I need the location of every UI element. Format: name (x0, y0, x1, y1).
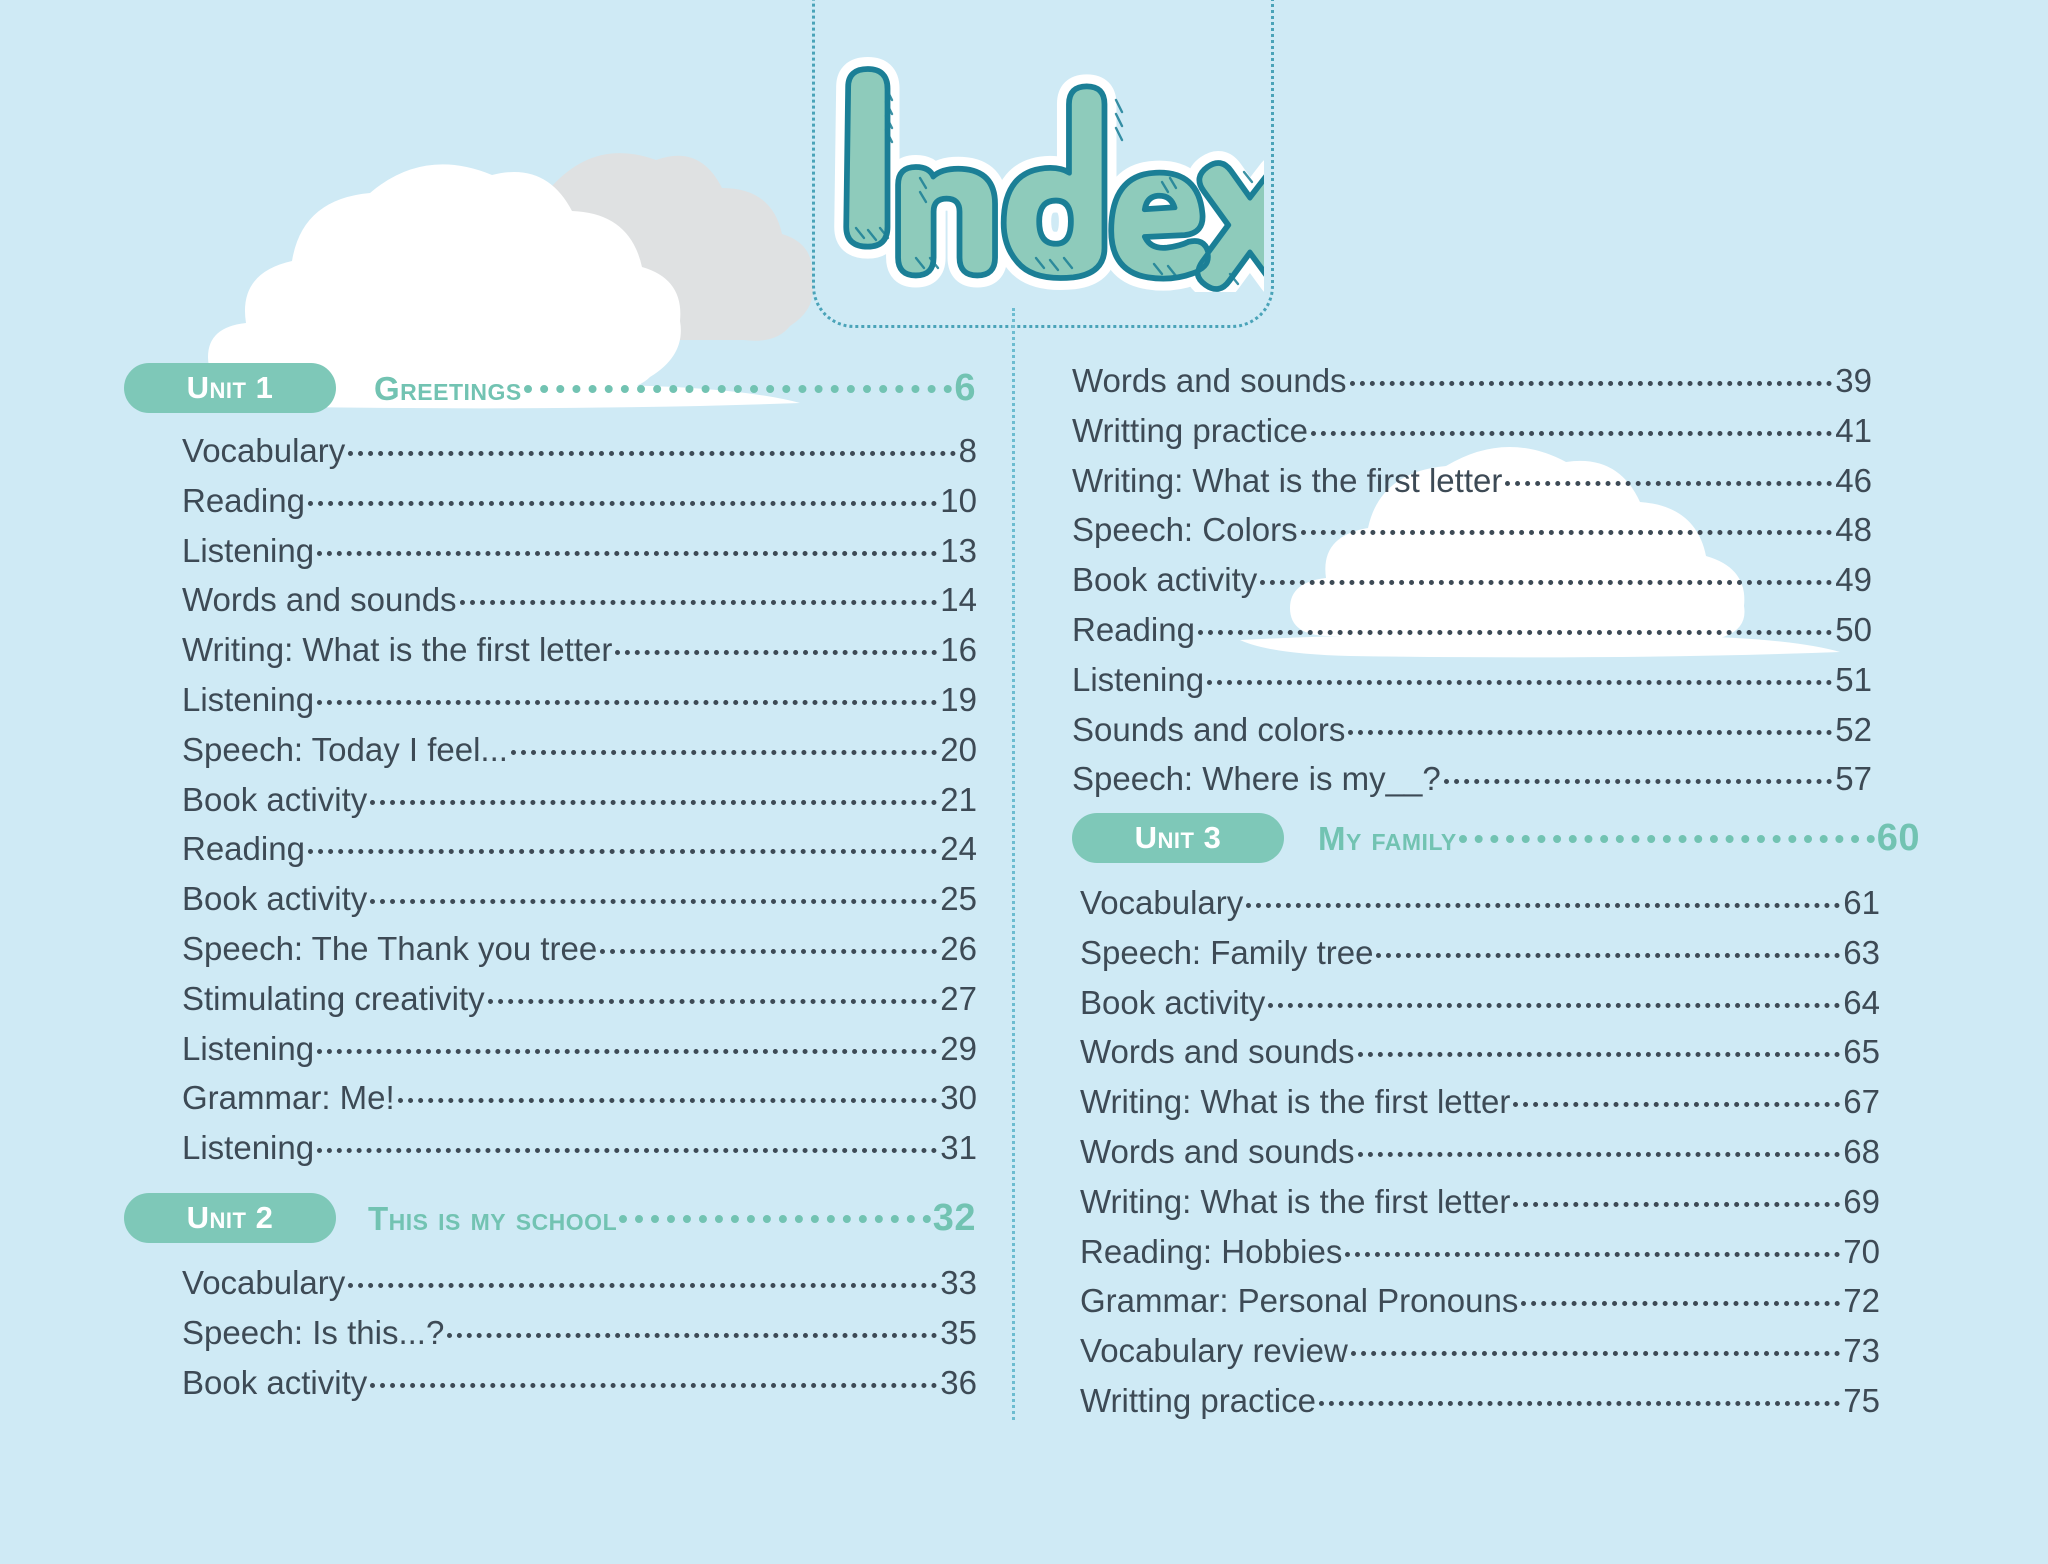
toc-entry-page: 36 (940, 1364, 977, 1402)
unit-dot-leader-2 (619, 1215, 931, 1223)
unit-title-2: This is my school (368, 1200, 617, 1238)
toc-entry-label: Writing: What is the first letter (1072, 462, 1502, 500)
toc-entry-page: 14 (940, 581, 977, 619)
toc-entry-label: Words and sounds (1080, 1133, 1355, 1171)
toc-entry[interactable]: Speech: Colors48 (1072, 511, 1872, 549)
toc-entry-label: Words and sounds (1080, 1033, 1355, 1071)
toc-entry[interactable]: Book activity49 (1072, 561, 1872, 599)
toc-entry-label: Listening (182, 1030, 314, 1068)
toc-entry-page: 35 (940, 1314, 977, 1352)
toc-entry[interactable]: Vocabulary review 73 (1080, 1332, 1880, 1370)
toc-dot-leader (1260, 580, 1832, 585)
toc-entry[interactable]: Grammar: Personal Pronouns 72 (1080, 1282, 1880, 1320)
toc-dot-leader (1345, 1252, 1840, 1257)
toc-entry-page: 69 (1843, 1183, 1880, 1221)
toc-entry[interactable]: Listening31 (182, 1129, 977, 1167)
toc-dot-leader (600, 949, 937, 954)
toc-entry[interactable]: Book activity21 (182, 781, 977, 819)
toc-entry-label: Speech: Today I feel... (182, 731, 508, 769)
toc-entry-label: Words and sounds (182, 581, 457, 619)
toc-entry[interactable]: Vocabulary 8 (182, 432, 977, 470)
toc-entry-page: 27 (940, 980, 977, 1018)
toc-dot-leader (1513, 1102, 1840, 1107)
toc-dot-leader (615, 650, 937, 655)
toc-entry-page: 21 (940, 781, 977, 819)
toc-entry-label: Speech: The Thank you tree (182, 930, 597, 968)
toc-entry-page: 30 (940, 1079, 977, 1117)
toc-entry-page: 39 (1835, 362, 1872, 400)
toc-entry-label: Reading (182, 482, 305, 520)
toc-dot-leader (370, 899, 937, 904)
toc-entry-label: Writting practice (1080, 1382, 1316, 1420)
toc-entry[interactable]: Book activity36 (182, 1364, 977, 1402)
toc-entry[interactable]: Speech: Where is my__? 57 (1072, 760, 1872, 798)
toc-entry[interactable]: Listening29 (182, 1030, 977, 1068)
toc-entry-page: 20 (940, 731, 977, 769)
toc-entry-page: 75 (1843, 1382, 1880, 1420)
toc-entry[interactable]: Words and sounds 65 (1080, 1033, 1880, 1071)
toc-entry-label: Grammar: Personal Pronouns (1080, 1282, 1518, 1320)
toc-dot-leader (317, 700, 937, 705)
toc-entry-label: Writting practice (1072, 412, 1308, 450)
toc-entry-page: 50 (1835, 611, 1872, 649)
toc-entry[interactable]: Writting practice 75 (1080, 1382, 1880, 1420)
toc-entry-page: 10 (940, 482, 977, 520)
unit-header-1[interactable]: Unit 1 Greetings 6 (124, 362, 976, 414)
toc-entry[interactable]: Grammar: Me!30 (182, 1079, 977, 1117)
toc-entry-label: Book activity (1072, 561, 1257, 599)
toc-entry-page: 67 (1843, 1083, 1880, 1121)
toc-entry-page: 19 (940, 681, 977, 719)
toc-dot-leader (1376, 953, 1840, 958)
toc-entry-label: Book activity (182, 781, 367, 819)
toc-entry[interactable]: Reading24 (182, 830, 977, 868)
toc-entry-label: Listening (182, 532, 314, 570)
toc-entry-label: Writing: What is the first letter (1080, 1183, 1510, 1221)
toc-entry-label: Sounds and colors (1072, 711, 1345, 749)
toc-entry[interactable]: Listening19 (182, 681, 977, 719)
toc-dot-leader (1358, 1052, 1841, 1057)
unit-title-1: Greetings (374, 370, 522, 408)
toc-entry-page: 41 (1835, 412, 1872, 450)
toc-entry-label: Listening (1072, 661, 1204, 699)
unit-dot-leader-3 (1459, 835, 1875, 843)
page-title (824, 52, 1264, 292)
toc-entry-page: 26 (940, 930, 977, 968)
toc-entry[interactable]: Book activity25 (182, 880, 977, 918)
toc-entry-label: Writing: What is the first letter (1080, 1083, 1510, 1121)
cloud-gray-left-icon (400, 130, 820, 370)
toc-entry-label: Book activity (182, 880, 367, 918)
toc-entry-label: Vocabulary review (1080, 1332, 1348, 1370)
toc-dot-leader (1521, 1301, 1840, 1306)
toc-entry[interactable]: Listening13 (182, 532, 977, 570)
toc-entry[interactable]: Reading10 (182, 482, 977, 520)
toc-entry-page: 24 (940, 830, 977, 868)
toc-entry[interactable]: Speech: Is this...?35 (182, 1314, 977, 1352)
toc-dot-leader (460, 600, 938, 605)
toc-entry-label: Reading (182, 830, 305, 868)
toc-dot-leader (308, 501, 937, 506)
toc-entry[interactable]: Vocabulary 61 (1080, 884, 1880, 922)
toc-entry-page: 49 (1835, 561, 1872, 599)
toc-dot-leader (1351, 1351, 1840, 1356)
toc-dot-leader (1513, 1202, 1840, 1207)
toc-entry-page: 63 (1843, 934, 1880, 972)
unit-title-3: My family (1318, 820, 1457, 858)
toc-entry-page: 65 (1843, 1033, 1880, 1071)
toc-entry-page: 73 (1843, 1332, 1880, 1370)
toc-entry-label: Words and sounds (1072, 362, 1347, 400)
toc-entry-page: 46 (1835, 462, 1872, 500)
toc-entry-label: Listening (182, 1129, 314, 1167)
toc-dot-leader (348, 1283, 937, 1288)
toc-entry-label: Vocabulary (182, 1264, 345, 1302)
toc-entry[interactable]: Speech: The Thank you tree26 (182, 930, 977, 968)
toc-entry-page: 33 (940, 1264, 977, 1302)
toc-entry-page: 61 (1843, 884, 1880, 922)
index-page: Unit 1 Greetings 6 Vocabulary 8Reading10… (0, 0, 2048, 1564)
toc-entry-label: Vocabulary (182, 432, 345, 470)
toc-entry-label: Book activity (1080, 984, 1265, 1022)
toc-entry-page: 57 (1835, 760, 1872, 798)
toc-entry-page: 51 (1835, 661, 1872, 699)
toc-dot-leader (1311, 431, 1832, 436)
toc-dot-leader (317, 1148, 937, 1153)
toc-entry[interactable]: Writing: What is the first letter67 (1080, 1083, 1880, 1121)
toc-dot-leader (1350, 381, 1833, 386)
unit-dot-leader-1 (524, 385, 953, 393)
unit-title-row-3: My family 60 (1318, 817, 1920, 860)
toc-dot-leader (1268, 1003, 1840, 1008)
toc-dot-leader (1319, 1401, 1840, 1406)
unit-page-2: 32 (933, 1197, 976, 1240)
toc-entry[interactable]: Book activity64 (1080, 984, 1880, 1022)
toc-dot-leader (370, 800, 937, 805)
toc-entry[interactable]: Vocabulary 33 (182, 1264, 977, 1302)
toc-entry[interactable]: Words and sounds 14 (182, 581, 977, 619)
toc-dot-leader (370, 1383, 937, 1388)
toc-dot-leader (511, 750, 937, 755)
toc-entry[interactable]: Writing: What is the first letter16 (182, 631, 977, 669)
column-divider (1012, 308, 1015, 1420)
toc-entry[interactable]: Listening51 (1072, 661, 1872, 699)
toc-entry-label: Vocabulary (1080, 884, 1243, 922)
toc-entry[interactable]: Writing: What is the first letter69 (1080, 1183, 1880, 1221)
toc-entry[interactable]: Speech: Family tree63 (1080, 934, 1880, 972)
toc-entry-label: Book activity (182, 1364, 367, 1402)
unit-page-3: 60 (1877, 817, 1920, 860)
toc-entry-label: Reading: Hobbies (1080, 1233, 1342, 1271)
unit-page-1: 6 (954, 367, 976, 410)
toc-entry-page: 25 (940, 880, 977, 918)
toc-entry-page: 70 (1843, 1233, 1880, 1271)
toc-entry-label: Stimulating creativity (182, 980, 485, 1018)
toc-entry-page: 29 (940, 1030, 977, 1068)
toc-dot-leader (1301, 530, 1833, 535)
toc-entry-label: Speech: Family tree (1080, 934, 1373, 972)
toc-entry-page: 8 (959, 432, 977, 470)
unit-header-3[interactable]: Unit 3 My family 60 (1072, 812, 1920, 864)
toc-entry-page: 31 (940, 1129, 977, 1167)
unit-header-2[interactable]: Unit 2 This is my school 32 (124, 1192, 976, 1244)
toc-entry-label: Reading (1072, 611, 1195, 649)
toc-entry[interactable]: Words and sounds 68 (1080, 1133, 1880, 1171)
toc-entry[interactable]: Sounds and colors52 (1072, 711, 1872, 749)
toc-dot-leader (488, 999, 938, 1004)
toc-entry-label: Grammar: Me! (182, 1079, 395, 1117)
toc-entry-page: 52 (1835, 711, 1872, 749)
unit-badge-2: Unit 2 (124, 1193, 336, 1243)
toc-dot-leader (308, 849, 937, 854)
unit-title-row-2: This is my school 32 (368, 1197, 976, 1240)
toc-entry-page: 48 (1835, 511, 1872, 549)
toc-dot-leader (398, 1098, 938, 1103)
toc-entry[interactable]: Speech: Today I feel...20 (182, 731, 977, 769)
toc-entry-label: Writing: What is the first letter (182, 631, 612, 669)
toc-entry-label: Speech: Is this...? (182, 1314, 444, 1352)
toc-dot-leader (447, 1333, 937, 1338)
toc-dot-leader (1358, 1152, 1841, 1157)
toc-entry-label: Listening (182, 681, 314, 719)
toc-entry[interactable]: Words and sounds 39 (1072, 362, 1872, 400)
unit-badge-3: Unit 3 (1072, 813, 1284, 863)
toc-dot-leader (317, 551, 937, 556)
toc-dot-leader (1246, 903, 1840, 908)
toc-dot-leader (1505, 481, 1832, 486)
toc-entry-page: 13 (940, 532, 977, 570)
toc-entry[interactable]: Reading: Hobbies70 (1080, 1233, 1880, 1271)
toc-entry-label: Speech: Where is my__? (1072, 760, 1441, 798)
unit-badge-1: Unit 1 (124, 363, 336, 413)
toc-entry-page: 64 (1843, 984, 1880, 1022)
toc-dot-leader (348, 451, 955, 456)
toc-entry[interactable]: Stimulating creativity 27 (182, 980, 977, 1018)
toc-entry[interactable]: Reading50 (1072, 611, 1872, 649)
unit-title-row-1: Greetings 6 (374, 367, 976, 410)
toc-dot-leader (1198, 630, 1832, 635)
toc-dot-leader (1348, 730, 1832, 735)
toc-entry[interactable]: Writting practice 41 (1072, 412, 1872, 450)
toc-entry-page: 68 (1843, 1133, 1880, 1171)
toc-entry[interactable]: Writing: What is the first letter46 (1072, 462, 1872, 500)
toc-dot-leader (317, 1049, 937, 1054)
toc-entry-label: Speech: Colors (1072, 511, 1298, 549)
toc-dot-leader (1207, 680, 1832, 685)
toc-dot-leader (1444, 779, 1833, 784)
toc-entry-page: 72 (1843, 1282, 1880, 1320)
toc-entry-page: 16 (940, 631, 977, 669)
